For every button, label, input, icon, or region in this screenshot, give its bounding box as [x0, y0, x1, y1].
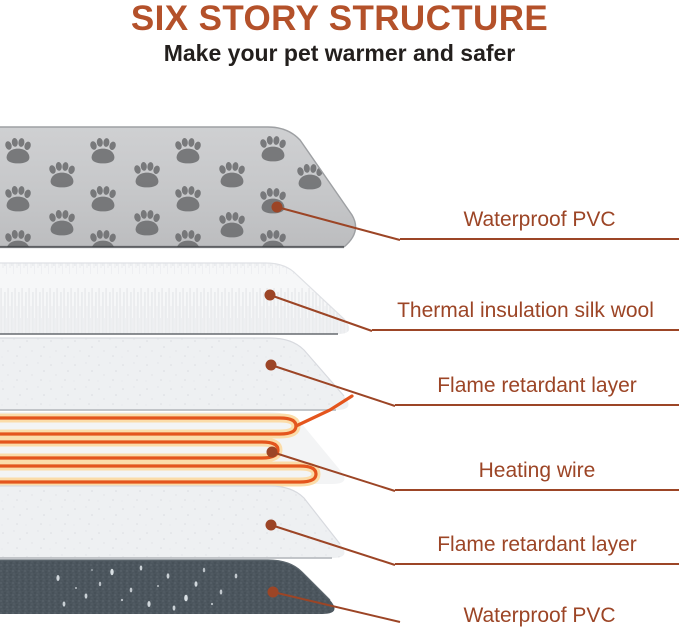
callout-layer-3: Flame retardant layer	[395, 362, 679, 406]
callout-rule	[395, 404, 679, 406]
callout-label: Waterproof PVC	[400, 207, 679, 233]
callout-layer-1: Waterproof PVC	[400, 196, 679, 240]
callout-label: Flame retardant layer	[395, 532, 679, 558]
callout-rule	[395, 489, 679, 491]
callout-layer-5: Flame retardant layer	[395, 521, 679, 565]
callout-layer-2: Thermal insulation silk wool	[372, 287, 679, 331]
callout-rule	[400, 238, 679, 240]
callout-label: Thermal insulation silk wool	[372, 298, 679, 324]
callout-rule	[372, 329, 679, 331]
callout-layer-4: Heating wire	[395, 447, 679, 491]
six-story-structure-infographic: SIX STORY STRUCTURE Make your pet warmer…	[0, 0, 679, 628]
callout-layer-6: Waterproof PVC	[400, 592, 679, 628]
callout-label: Heating wire	[395, 458, 679, 484]
callout-label: Flame retardant layer	[395, 373, 679, 399]
callout-rule	[395, 563, 679, 565]
leader-dots	[265, 202, 283, 598]
callout-label: Waterproof PVC	[400, 603, 679, 628]
